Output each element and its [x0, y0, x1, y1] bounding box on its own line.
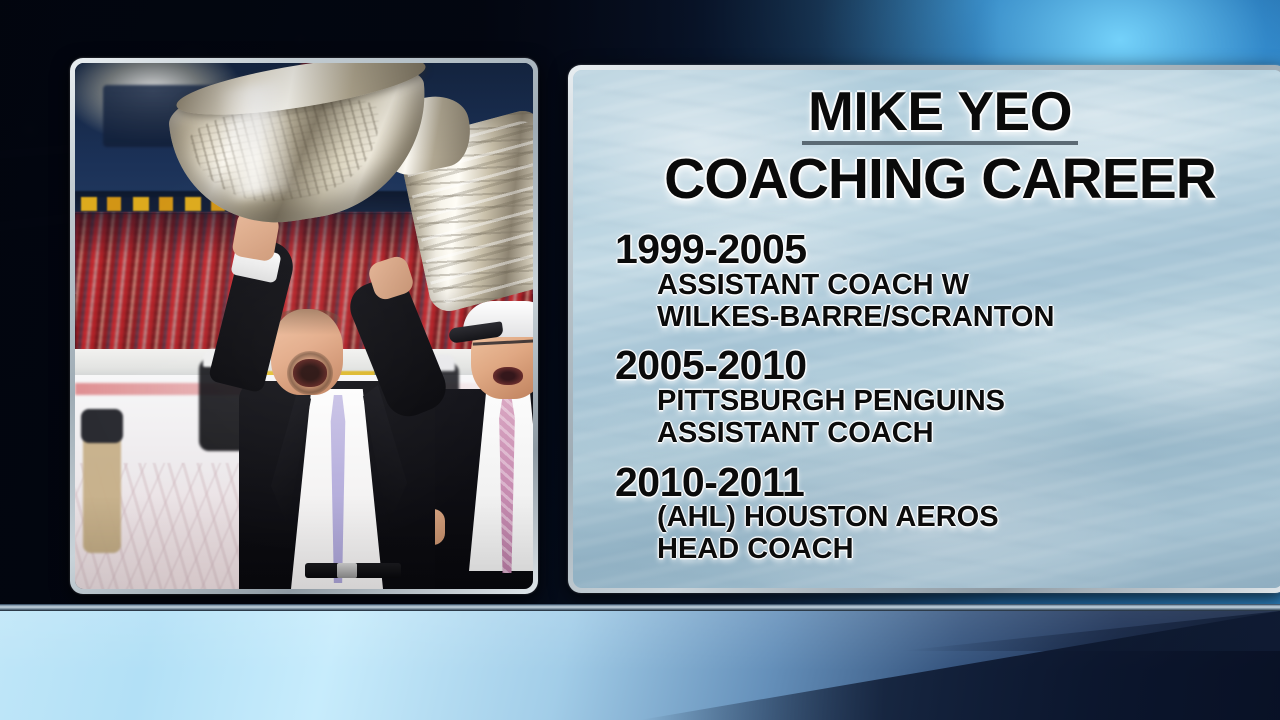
career-entry-detail-line: (AHL) HOUSTON AEROS [657, 502, 1265, 534]
title-line-2: COACHING CAREER [615, 149, 1265, 209]
career-entry-detail: (AHL) HOUSTON AEROS HEAD COACH [615, 502, 1265, 566]
info-panel: MIKE YEO COACHING CAREER 1999-2005 ASSIS… [568, 65, 1280, 593]
title-line-1: MIKE YEO [802, 84, 1078, 145]
career-entry-years: 2010-2011 [615, 460, 1265, 504]
photo-panel-inner [75, 63, 533, 589]
graphic-title: MIKE YEO COACHING CAREER [615, 84, 1265, 209]
career-entry: 2010-2011 (AHL) HOUSTON AEROS HEAD COACH [615, 460, 1265, 566]
stanley-cup-photo [75, 63, 533, 589]
career-entry-detail-line: PITTSBURGH PENGUINS [657, 386, 1265, 418]
career-entry-detail-line: HEAD COACH [657, 534, 1265, 566]
career-entry-detail-line: ASSISTANT COACH [657, 418, 1265, 450]
career-entry-detail: ASSISTANT COACH W WILKES-BARRE/SCRANTON [615, 270, 1265, 334]
career-entry-years: 1999-2005 [615, 227, 1265, 271]
career-entry-list: 1999-2005 ASSISTANT COACH W WILKES-BARRE… [615, 227, 1265, 565]
career-entry-detail-line: WILKES-BARRE/SCRANTON [657, 302, 1265, 334]
broadcast-graphic: MIKE YEO COACHING CAREER 1999-2005 ASSIS… [0, 0, 1280, 720]
career-entry-detail-line: ASSISTANT COACH W [657, 270, 1265, 302]
photo-color-grade [75, 63, 533, 589]
career-entry-years: 2005-2010 [615, 343, 1265, 387]
photo-panel [70, 58, 538, 594]
info-content: MIKE YEO COACHING CAREER 1999-2005 ASSIS… [573, 70, 1280, 588]
info-panel-inner: MIKE YEO COACHING CAREER 1999-2005 ASSIS… [573, 70, 1280, 588]
career-entry: 2005-2010 PITTSBURGH PENGUINS ASSISTANT … [615, 343, 1265, 449]
career-entry-detail: PITTSBURGH PENGUINS ASSISTANT COACH [615, 386, 1265, 450]
career-entry: 1999-2005 ASSISTANT COACH W WILKES-BARRE… [615, 227, 1265, 333]
bottom-divider-line [0, 604, 1280, 611]
